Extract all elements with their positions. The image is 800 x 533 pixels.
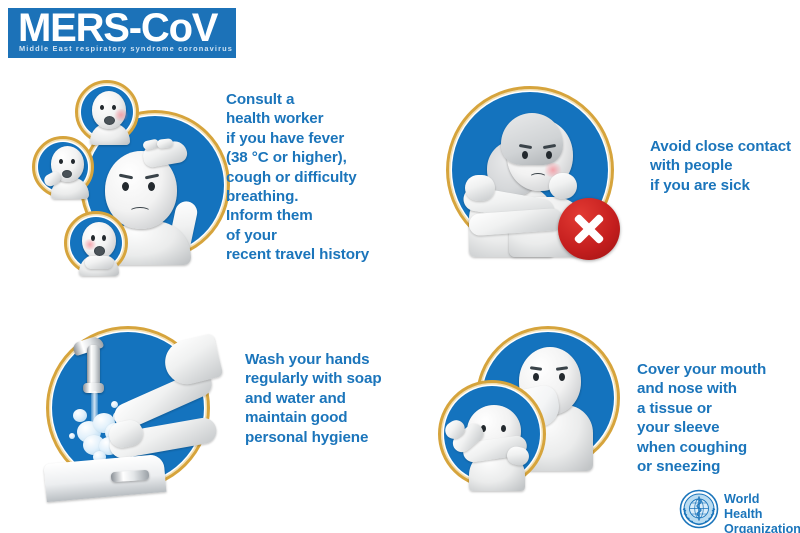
frowning-mouth [129, 207, 151, 217]
flushed-cheek [113, 109, 129, 121]
hand-left [465, 175, 495, 201]
symptom-bubble-cough [32, 136, 94, 198]
eye-left [533, 373, 539, 381]
panel-avoid-close-contact [446, 86, 626, 266]
eye-right [546, 151, 552, 159]
eye-right [71, 159, 75, 164]
symptom-bubble-sore-throat [64, 211, 128, 275]
sad-mouth [529, 173, 547, 183]
message-wash-your-hands: Wash your hands regularly with soap and … [245, 350, 425, 447]
who-logo-text: World Health Organization [724, 492, 800, 533]
eye-right [559, 373, 565, 381]
soap-suds [73, 409, 87, 422]
message-cover-mouth-and-nose: Cover your mouth and nose with a tissue … [637, 360, 800, 476]
illustration-sleeve-circle [438, 380, 546, 488]
who-emblem-icon [679, 489, 719, 529]
water-droplet [69, 433, 75, 439]
eye-right [112, 105, 116, 110]
panel-consult-health-worker [28, 78, 228, 278]
panel-wash-your-hands [46, 326, 226, 490]
open-mouth [62, 170, 72, 178]
eye-left [100, 105, 104, 110]
red-x-prohibition-badge [558, 198, 620, 260]
mers-cov-prevention-infographic: MERS-CoV Middle East respiratory syndrom… [0, 0, 800, 533]
message-avoid-close-contact: Avoid close contact with people if you a… [650, 137, 800, 195]
eye-left [59, 159, 63, 164]
eye-left [91, 235, 95, 241]
eye-right [501, 425, 506, 432]
eye-right [148, 182, 155, 191]
hands-at-throat [85, 256, 113, 269]
who-logo: World Health Organization [679, 487, 794, 531]
hand-right [549, 173, 577, 199]
eye-left [522, 151, 528, 159]
open-mouth [104, 116, 115, 125]
mers-cov-title-bar: MERS-CoV Middle East respiratory syndrom… [8, 8, 236, 58]
eye-right [102, 235, 106, 241]
illustration-handwashing-circle [46, 326, 210, 490]
page-subtitle: Middle East respiratory syndrome coronav… [19, 44, 233, 53]
symptom-bubble-fever-face [75, 80, 139, 144]
faucet-neck [87, 345, 100, 387]
open-mouth [94, 246, 105, 256]
message-consult-health-worker: Consult a health worker if you have feve… [226, 90, 416, 265]
panel-cover-mouth-and-nose [438, 326, 620, 490]
eye-left [122, 182, 129, 191]
